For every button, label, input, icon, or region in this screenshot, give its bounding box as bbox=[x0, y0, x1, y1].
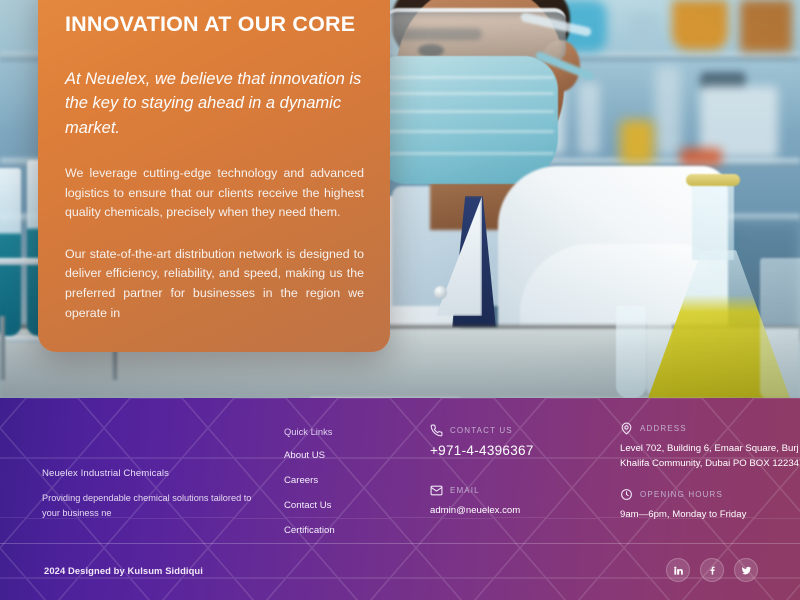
facebook-icon bbox=[707, 565, 718, 576]
brand-name: Neuelex Industrial Chemicals bbox=[42, 468, 257, 479]
clock-icon bbox=[620, 488, 633, 501]
quick-links-title: Quick Links bbox=[284, 426, 335, 437]
hero-paragraph-1: We leverage cutting-edge technology and … bbox=[65, 164, 364, 223]
opening-hours-label: OPENING HOURS bbox=[640, 490, 723, 499]
contact-phone-label: CONTACT US bbox=[450, 426, 513, 435]
quick-link-about-us[interactable]: About US bbox=[284, 450, 335, 461]
copyright-text: 2024 Designed by Kulsum Siddiqui bbox=[44, 565, 203, 576]
opening-hours-header: OPENING HOURS bbox=[620, 488, 800, 501]
quick-link-contact-us[interactable]: Contact Us bbox=[284, 500, 335, 511]
footer-bottom-bar: 2024 Designed by Kulsum Siddiqui bbox=[0, 544, 800, 600]
linkedin-icon bbox=[673, 565, 684, 576]
brand-description: Providing dependable chemical solutions … bbox=[42, 491, 257, 521]
facebook-button[interactable] bbox=[700, 558, 724, 582]
address-label: ADDRESS bbox=[640, 424, 687, 433]
footer-contact-column: CONTACT US +971-4-4396367 EMAIL admin@ne… bbox=[430, 424, 610, 534]
hero-card: INNOVATION AT OUR CORE At Neuelex, we be… bbox=[38, 0, 390, 352]
contact-email-header: EMAIL bbox=[430, 484, 610, 497]
hero-paragraph-2: Our state-of-the-art distribution networ… bbox=[65, 245, 364, 323]
linkedin-button[interactable] bbox=[666, 558, 690, 582]
contact-email-label: EMAIL bbox=[450, 486, 480, 495]
page-title: INNOVATION AT OUR CORE bbox=[65, 12, 364, 37]
address-item: ADDRESS Level 702, Building 6, Emaar Squ… bbox=[620, 422, 800, 472]
address-header: ADDRESS bbox=[620, 422, 800, 435]
footer-brand: Neuelex Industrial Chemicals Providing d… bbox=[42, 468, 257, 521]
twitter-icon bbox=[741, 565, 752, 576]
footer-address-column: ADDRESS Level 702, Building 6, Emaar Squ… bbox=[620, 422, 800, 536]
mail-icon bbox=[430, 484, 443, 497]
contact-email-value[interactable]: admin@neuelex.com bbox=[430, 503, 610, 518]
opening-hours-value: 9am—6pm, Monday to Friday bbox=[620, 507, 800, 522]
twitter-button[interactable] bbox=[734, 558, 758, 582]
hero-lede: At Neuelex, we believe that innovation i… bbox=[65, 67, 364, 140]
quick-links-column: Quick Links About US Careers Contact Us … bbox=[284, 426, 335, 550]
site-footer: Neuelex Industrial Chemicals Providing d… bbox=[0, 398, 800, 600]
contact-phone-header: CONTACT US bbox=[430, 424, 610, 437]
social-links bbox=[666, 558, 758, 582]
hero-section: INNOVATION AT OUR CORE At Neuelex, we be… bbox=[0, 0, 800, 398]
contact-phone-item: CONTACT US +971-4-4396367 bbox=[430, 424, 610, 458]
contact-email-item: EMAIL admin@neuelex.com bbox=[430, 484, 610, 518]
opening-hours-item: OPENING HOURS 9am—6pm, Monday to Friday bbox=[620, 488, 800, 522]
phone-icon bbox=[430, 424, 443, 437]
contact-phone-value[interactable]: +971-4-4396367 bbox=[430, 443, 610, 458]
map-pin-icon bbox=[620, 422, 633, 435]
quick-link-careers[interactable]: Careers bbox=[284, 475, 335, 486]
quick-link-certification[interactable]: Certification bbox=[284, 525, 335, 536]
address-value: Level 702, Building 6, Emaar Square, Bur… bbox=[620, 441, 800, 472]
